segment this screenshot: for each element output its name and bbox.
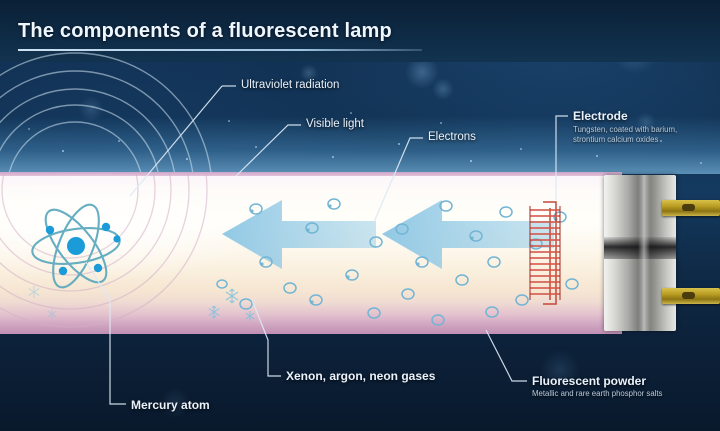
connector-pin-icon [662,288,720,304]
sparkle-dot [440,122,442,124]
label-ultraviolet-radiation: Ultraviolet radiation [241,79,339,91]
sparkle-dot [255,146,257,148]
sparkle-dot [470,160,472,162]
sparkle-dot [62,150,64,152]
label-electrode-sub-line1: Tungsten, coated with barium, [573,125,677,135]
electrode-end-cap [604,175,676,331]
label-fluorescent-powder-sub: Metallic and rare earth phosphor salts [532,389,662,399]
sparkle-dot [332,156,334,158]
sparkle-dot [28,128,30,130]
sparkle-dot [660,140,662,142]
leader-visible-light [236,125,301,176]
sparkle-dot [700,162,702,164]
label-fluorescent-powder: Fluorescent powder [532,374,646,388]
infographic-canvas: The components of a fluorescent lamp [0,0,720,431]
pin-nub [682,292,695,299]
label-electrode: Electrode [573,109,628,123]
sparkle-dot [228,120,230,122]
sparkle-dot [118,140,120,142]
sparkle-dot [398,143,400,145]
bokeh-circle [78,96,104,122]
label-mercury-atom: Mercury atom [131,398,210,412]
sparkle-dot [186,158,188,160]
tube-highlight [0,176,622,210]
cap-sheen [638,175,650,331]
label-gases: Xenon, argon, neon gases [286,369,435,383]
title-underline [18,49,422,51]
sparkle-dot [350,112,352,114]
lamp-tube [0,172,622,334]
radiation-wave-icon [0,53,212,190]
sparkle-dot [520,148,522,150]
bokeh-circle [432,78,454,100]
label-visible-light: Visible light [306,118,364,130]
connector-pin-icon [662,200,720,216]
label-electrode-sub-line2: strontium calcium oxides [573,135,658,145]
page-title: The components of a fluorescent lamp [18,20,392,43]
pin-nub [682,204,695,211]
label-electrons: Electrons [428,131,476,143]
leader-fluorescent-powder [486,330,527,381]
sparkle-dot [596,155,598,157]
